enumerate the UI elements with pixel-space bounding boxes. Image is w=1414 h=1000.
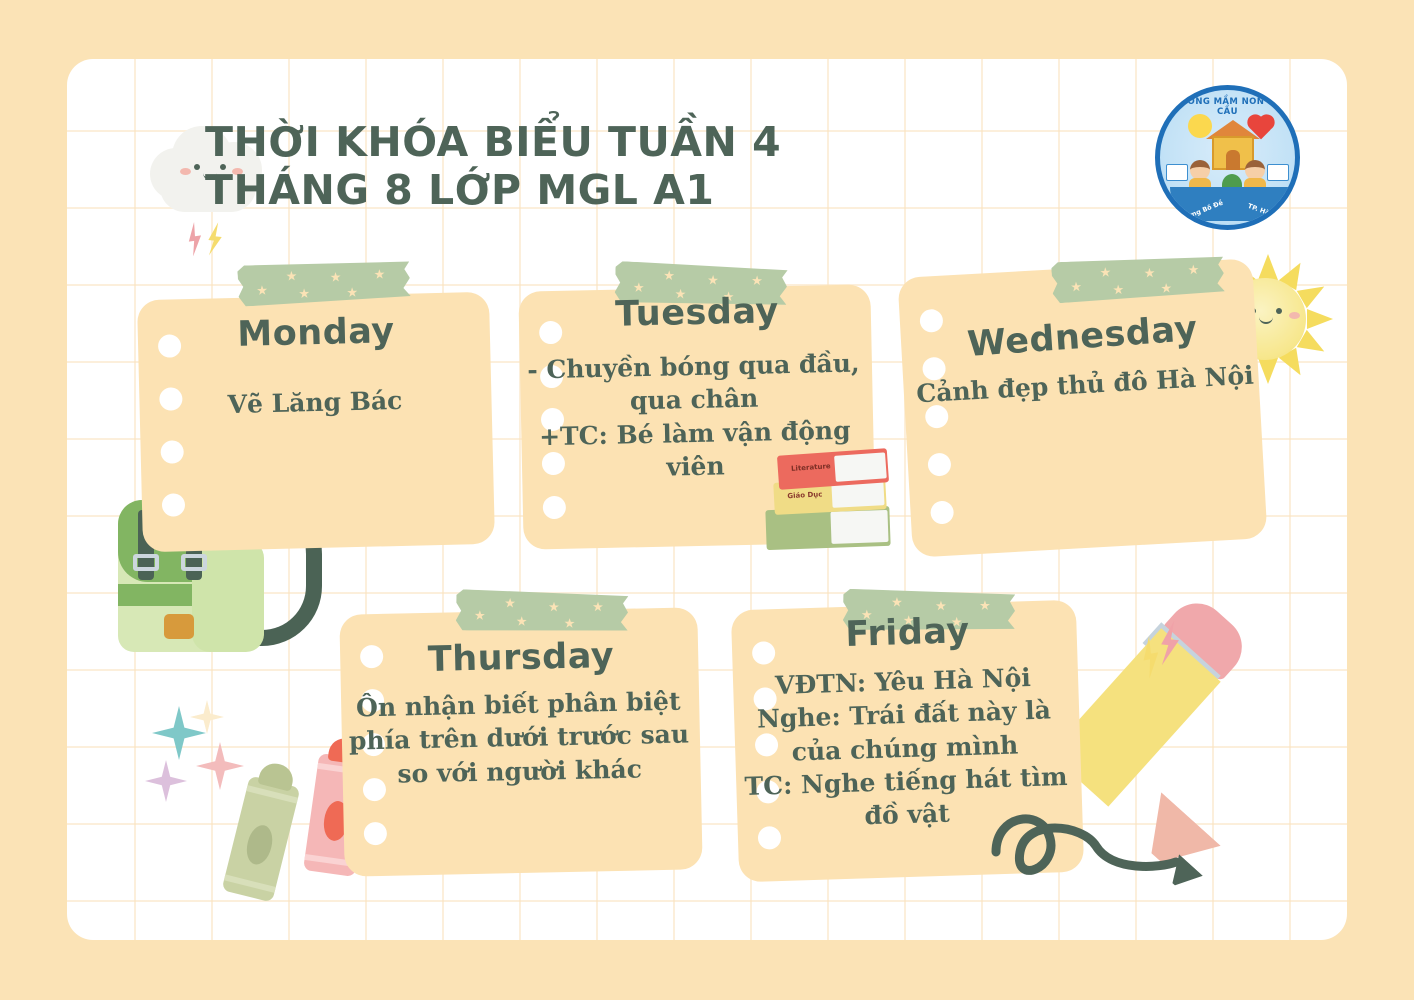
sparkle-icon — [196, 742, 244, 790]
school-logo: TRƯỜNG MẦM NON BẮC CẦU Phường Bồ Đề TP. … — [1155, 85, 1300, 230]
day-content-tuesday: - Chuyền bóng qua đầu, qua chân+TC: Bé l… — [515, 346, 875, 486]
title-line-2: THÁNG 8 LỚP MGL A1 — [205, 166, 965, 214]
lightning-bolt-icon — [1156, 619, 1185, 667]
logo-book-icon — [1267, 164, 1289, 181]
book-label: Giáo Dục — [787, 490, 822, 500]
day-title-thursday: Thursday — [342, 634, 701, 681]
sparkle-icon — [190, 700, 224, 734]
day-content-thursday: Ôn nhận biết phân biệt phía trên dưới tr… — [337, 684, 701, 791]
logo-door — [1226, 150, 1240, 170]
logo-arc-text: TRƯỜNG MẦM NON BẮC CẦU — [1160, 97, 1295, 117]
sparkle-icon — [145, 760, 187, 802]
washi-tape: ★ ★ ★ ★ ★ ★ — [456, 589, 629, 634]
title-line-1: THỜI KHÓA BIỂU TUẦN 4 — [205, 118, 965, 166]
page-title: THỜI KHÓA BIỂU TUẦN 4 THÁNG 8 LỚP MGL A1 — [205, 118, 965, 215]
logo-book-icon — [1166, 164, 1188, 181]
day-content-friday: VĐTN: Yêu Hà NộiNghe: Trái đất này là củ… — [727, 660, 1082, 837]
poster-canvas: THỜI KHÓA BIỂU TUẦN 4 THÁNG 8 LỚP MGL A1… — [0, 0, 1414, 1000]
day-title-tuesday: Tuesday — [521, 289, 874, 336]
lightning-bolt-icon — [204, 221, 225, 257]
